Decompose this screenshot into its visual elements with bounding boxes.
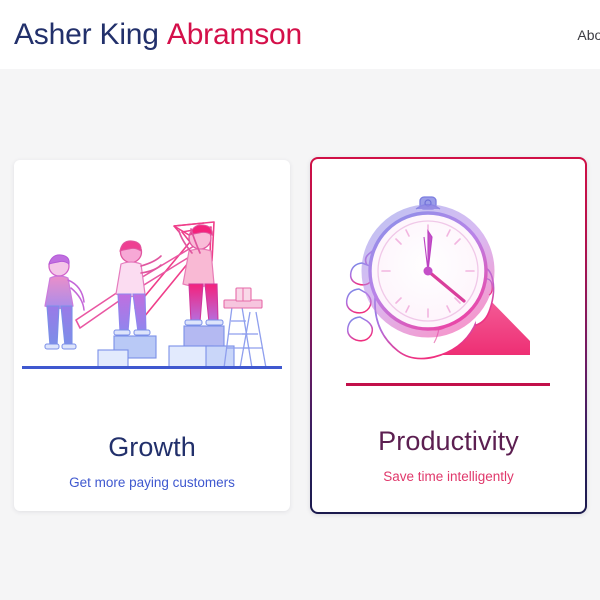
brand-last-name: Abramson	[167, 18, 302, 51]
productivity-ground-line	[346, 383, 550, 386]
brand-first-name: Asher King	[14, 18, 159, 51]
card-grid: Growth Get more paying customers	[0, 69, 600, 600]
productivity-illustration	[312, 159, 585, 395]
nav-link-about[interactable]: About	[577, 27, 600, 43]
card-productivity[interactable]: Productivity Save time intelligently	[310, 157, 587, 514]
card-subtitle-productivity: Save time intelligently	[383, 470, 514, 484]
primary-navigation: About	[577, 27, 600, 43]
growth-illustration	[14, 160, 290, 398]
site-brand[interactable]: Asher King Abramson	[14, 20, 302, 50]
card-growth[interactable]: Growth Get more paying customers	[14, 160, 290, 511]
site-header: Asher King Abramson About	[0, 0, 600, 69]
card-title-growth: Growth	[108, 434, 196, 461]
card-title-productivity: Productivity	[378, 428, 519, 455]
card-subtitle-growth: Get more paying customers	[69, 476, 235, 490]
